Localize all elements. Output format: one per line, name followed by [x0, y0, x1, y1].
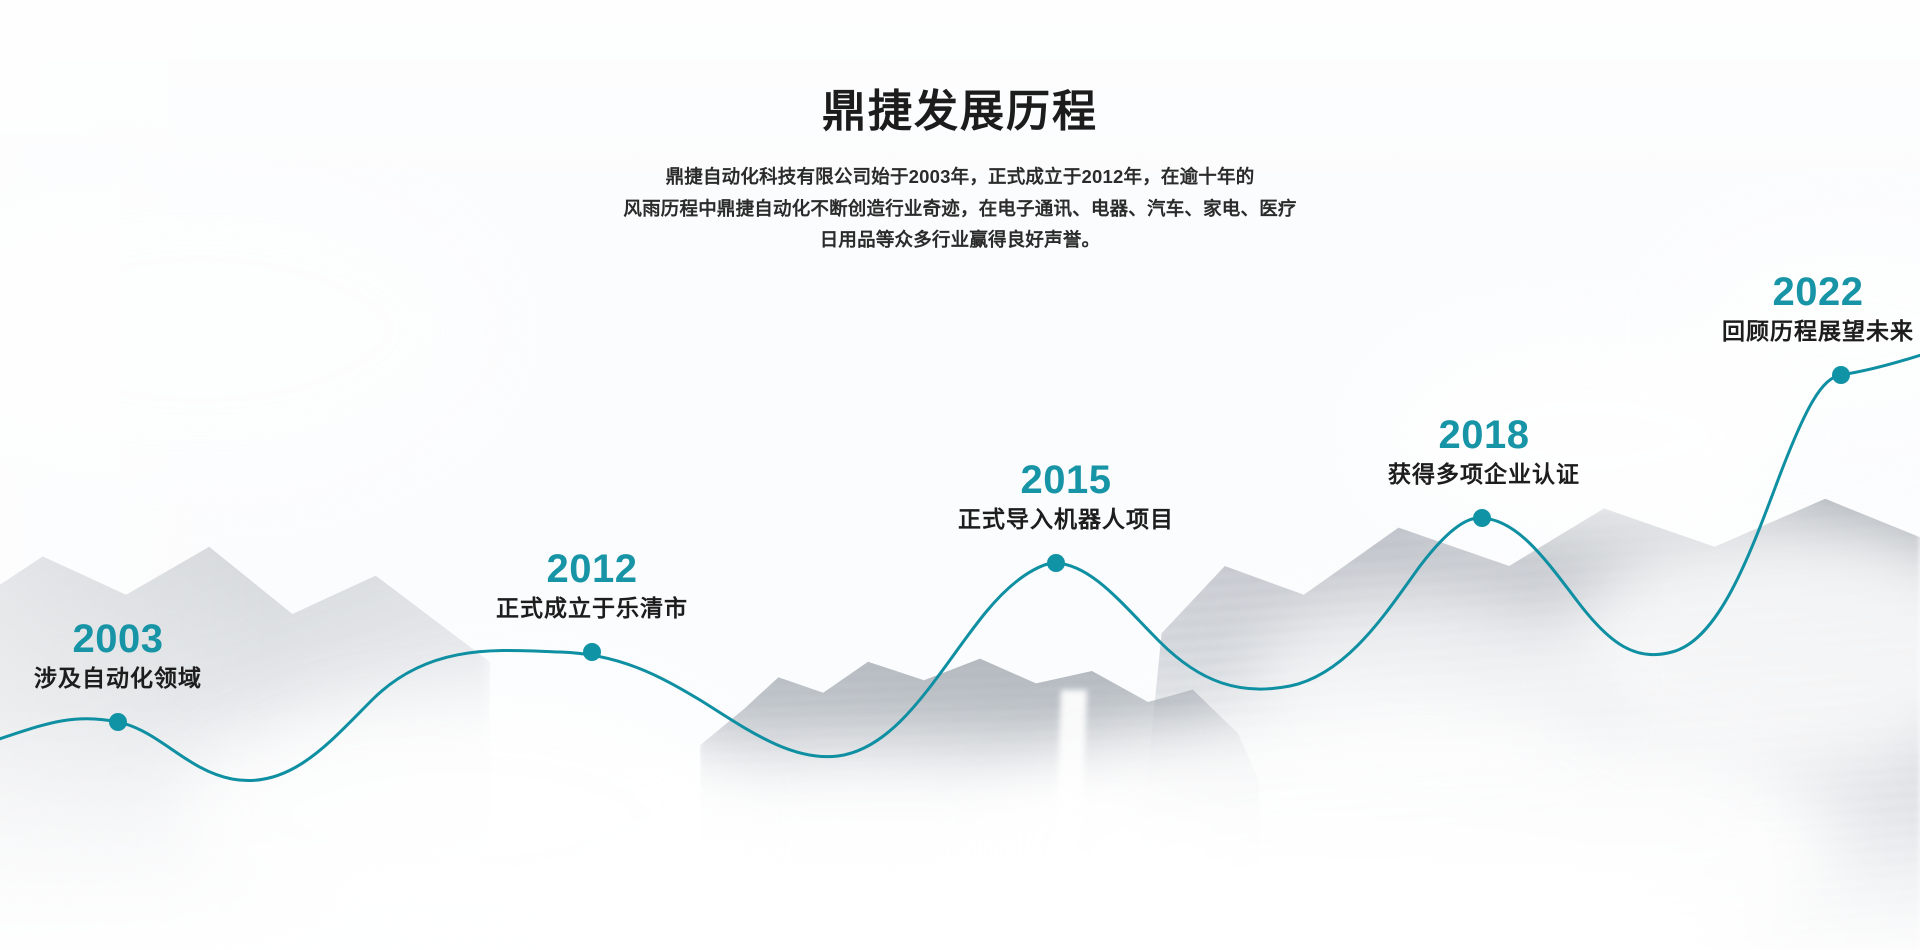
- milestone-description-2015: 正式导入机器人项目: [816, 506, 1316, 534]
- milestone-2012[interactable]: 2012正式成立于乐清市: [342, 548, 842, 623]
- milestone-description-2003: 涉及自动化领域: [0, 665, 368, 693]
- milestone-description-2018: 获得多项企业认证: [1234, 461, 1734, 489]
- milestone-year-2012: 2012: [342, 548, 842, 590]
- milestone-2018[interactable]: 2018获得多项企业认证: [1234, 414, 1734, 489]
- infographic-canvas: 鼎捷发展历程 鼎捷自动化科技有限公司始于2003年，正式成立于2012年，在逾十…: [0, 0, 1920, 950]
- timeline-node-dot-2003[interactable]: [109, 713, 127, 731]
- timeline-node-dot-2015[interactable]: [1047, 554, 1065, 572]
- timeline-node-dot-2012[interactable]: [583, 643, 601, 661]
- timeline-node-dot-2018[interactable]: [1473, 509, 1491, 527]
- milestone-description-2022: 回顾历程展望未来: [1568, 318, 1920, 346]
- milestone-year-2022: 2022: [1568, 271, 1920, 313]
- milestone-year-2003: 2003: [0, 618, 368, 660]
- timeline-node-dot-2022[interactable]: [1832, 366, 1850, 384]
- milestone-description-2012: 正式成立于乐清市: [342, 595, 842, 623]
- milestone-2003[interactable]: 2003涉及自动化领域: [0, 618, 368, 693]
- milestone-year-2018: 2018: [1234, 414, 1734, 456]
- milestone-2022[interactable]: 2022回顾历程展望未来: [1568, 271, 1920, 346]
